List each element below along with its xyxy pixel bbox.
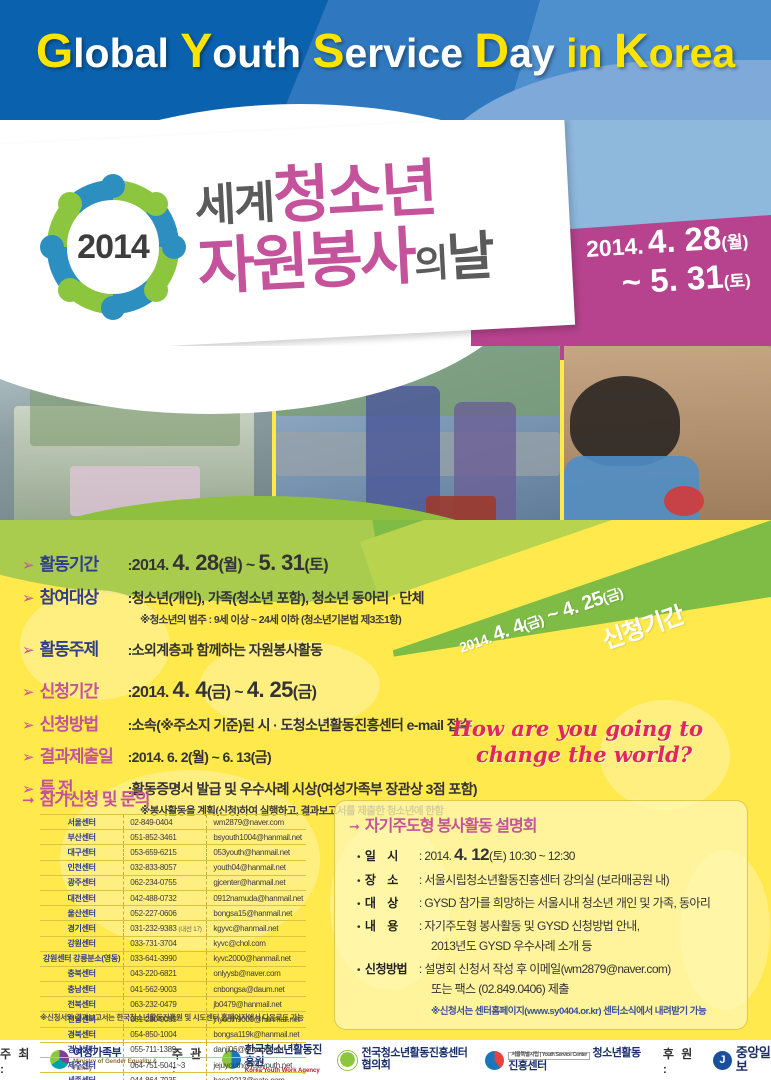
contact-email[interactable]: gjcenter@hanmail.net: [207, 875, 306, 890]
contact-center-name: 광주센터: [40, 875, 124, 890]
title-part-10: orea: [649, 30, 736, 76]
table-row: 전북센터063-232-0479jb0479@hanmail.net: [40, 997, 306, 1012]
contact-center-name: 대전센터: [40, 890, 124, 905]
info-row-label: 참여대상: [40, 583, 128, 608]
top-banner: Global Youth Service Day in Korea: [0, 0, 771, 140]
contact-phone: 033-641-3990: [124, 951, 207, 966]
contact-table: 서울센터02-849-0404wm2879@naver.com부산센터051-8…: [40, 814, 306, 1080]
info-row-value: 활동증명서 발급 및 우수사례 시상(여성가족부 장관상 3점 포함): [132, 779, 477, 799]
slogan-line-1: How are you going to: [452, 716, 703, 741]
info-row-0: ➢활동기간 : 2014. 4. 28(월) ~ 5. 31(토): [22, 550, 582, 576]
center-council-logo-icon: [337, 1050, 358, 1071]
info-row-label: 결과제출일: [40, 742, 128, 767]
contact-phone: 042-488-0732: [124, 890, 207, 905]
bullet-arrow-icon: ➢: [22, 558, 35, 573]
contact-center-name: 경북센터: [40, 1027, 124, 1042]
contact-email[interactable]: wm2879@naver.com: [207, 815, 306, 830]
contact-phone: 033-731-3704: [124, 936, 207, 951]
table-row: 전남센터061-280-9085jnyouth9000@hanmail.net: [40, 1012, 306, 1027]
table-row: 충남센터041-562-9003cnbongsa@daum.net: [40, 982, 306, 997]
info-row-label: 신청기간: [40, 677, 128, 702]
table-row: 대구센터053-659-6215053youth@hanmail.net: [40, 845, 306, 860]
briefing-row-value: : 자기주도형 봉사활동 및 GYSD 신청방법 안내,: [419, 917, 640, 934]
briefing-rows: •일 시: 2014. 4. 12(토) 10:30 ~ 12:30•장 소: …: [335, 845, 747, 1017]
contact-email[interactable]: danji06@gnyouth.net: [207, 1042, 306, 1057]
contact-email[interactable]: 0912namuda@hanmail.net: [207, 890, 306, 905]
contact-phone: 02-849-0404: [124, 815, 207, 830]
joongang-logo-icon: J: [713, 1051, 732, 1070]
photo-strip: [0, 346, 771, 532]
info-row-value: 2014. 4. 28(월) ~ 5. 31(토): [132, 550, 328, 576]
contact-phone: 055-711-1389: [124, 1042, 207, 1057]
date-end: ~ 5. 31: [620, 258, 724, 301]
contact-center-name: 대구센터: [40, 845, 124, 860]
info-row-label: 신청방법: [40, 710, 128, 735]
contact-phone: 053-659-6215: [124, 845, 207, 860]
contact-center-name: 강원센터: [40, 936, 124, 951]
gysd-2014-logo: 2014: [38, 172, 188, 322]
table-row: 광주센터062-234-0755gjcenter@hanmail.net: [40, 875, 306, 890]
contact-email[interactable]: onlyysb@naver.com: [207, 966, 306, 981]
contact-email[interactable]: 053youth@hanmail.net: [207, 845, 306, 860]
contact-email[interactable]: jnyouth9000@hanmail.net: [207, 1012, 306, 1027]
sponsor-organization: J 중앙일보: [713, 1046, 771, 1073]
poster-root: Global Youth Service Day in Korea: [0, 0, 771, 1080]
bullet-dot-icon: •: [357, 899, 360, 910]
briefing-row-label: 내 용: [365, 917, 419, 934]
contact-phone: 052-227-0606: [124, 906, 207, 921]
contact-phone: 043-220-6821: [124, 966, 207, 981]
title-part-9: K: [614, 25, 649, 78]
briefing-row-3: •내 용: 자기주도형 봉사활동 및 GYSD 신청방법 안내,: [357, 917, 747, 934]
table-row: 세종센터044-864-7935hasa0213@nate.com: [40, 1073, 306, 1080]
poster-english-title: Global Youth Service Day in Korea: [0, 28, 771, 76]
contact-phone: 064-751-5041~3: [124, 1058, 207, 1073]
bullet-arrow-icon: ➢: [22, 750, 35, 765]
table-row: 경남센터055-711-1389danji06@gnyouth.net: [40, 1042, 306, 1057]
sponsor-name: 중앙일보: [736, 1046, 771, 1073]
briefing-row-value: : 설명회 신청서 작성 후 이메일(wm2879@naver.com): [419, 960, 671, 977]
briefing-row-continuation: 또는 팩스 (02.849.0406) 제출: [431, 980, 747, 997]
briefing-row-value: : 서울시립청소년활동진흥센터 강의실 (보라매공원 내): [419, 871, 669, 888]
info-row-label: 활동주제: [40, 635, 128, 660]
title-part-4: S: [312, 25, 344, 78]
title-segment-segye: 세계: [193, 177, 274, 232]
contact-email[interactable]: bongsa119k@hanmail.net: [207, 1027, 306, 1042]
contact-phone: 063-232-0479: [124, 997, 207, 1012]
title-part-5: ervice: [344, 30, 474, 76]
contact-email[interactable]: kgyvc@hanmail.net: [207, 921, 306, 936]
contact-center-name: 충남센터: [40, 982, 124, 997]
table-row: 경기센터031-232-9383 (내선 17)kgyvc@hanmail.ne…: [40, 921, 306, 936]
contact-center-name: 부산센터: [40, 830, 124, 845]
title-part-3: outh: [212, 30, 312, 76]
bullet-arrow-icon: ➢: [22, 591, 35, 606]
contact-center-table: 서울센터02-849-0404wm2879@naver.com부산센터051-8…: [40, 814, 306, 1080]
seoul-center-logo-icon: [485, 1051, 504, 1070]
briefing-row-value: : 2014. 4. 12(토) 10:30 ~ 12:30: [419, 845, 575, 865]
briefing-row-note: ※신청서는 센터홈페이지(www.sy0404.or.kr) 센터소식에서 내려…: [431, 1003, 747, 1017]
info-row-value: 소외계층과 함께하는 자원봉사활동: [132, 640, 323, 660]
contact-phone: 062-234-0755: [124, 875, 207, 890]
organizer-3: 서울특별시립 | Youth Service Center 청소년활동진흥센터: [485, 1048, 649, 1072]
contact-phone: 054-850-1004: [124, 1027, 207, 1042]
contact-email[interactable]: cnbongsa@daum.net: [207, 982, 306, 997]
info-row-value: 2014. 4. 4(금) ~ 4. 25(금): [132, 677, 317, 703]
briefing-heading-label: 자기주도형 봉사활동 설명회: [365, 812, 537, 836]
title-segment-nal: 날: [445, 228, 494, 288]
contact-center-name: 전북센터: [40, 997, 124, 1012]
organizer-3-block: 서울특별시립 | Youth Service Center 청소년활동진흥센터: [508, 1048, 649, 1072]
contact-center-name: 제주센터: [40, 1058, 124, 1073]
sponsor-label: 후 원 :: [663, 1045, 699, 1076]
photo-student-crafting: [564, 346, 771, 532]
date-year: 2014.: [585, 232, 644, 261]
table-row: 경북센터054-850-1004bongsa119k@hanmail.net: [40, 1027, 306, 1042]
briefing-row-label: 일 시: [365, 847, 419, 864]
contact-phone: 051-852-3461: [124, 830, 207, 845]
briefing-row-2: •대 상: GYSD 참가를 희망하는 서울시내 청소년 개인 및 가족, 동아…: [357, 894, 747, 911]
korean-main-title: 세계청소년 자원봉사의날: [193, 154, 494, 300]
briefing-row-0: •일 시: 2014. 4. 12(토) 10:30 ~ 12:30: [357, 845, 747, 865]
contact-phone: 031-232-9383 (내선 17): [124, 921, 207, 936]
title-part-7: ay: [509, 30, 566, 76]
contact-center-name: 강원센터 강릉분소(영동): [40, 951, 124, 966]
bullet-arrow-icon: ➢: [22, 643, 35, 658]
briefing-row-4: •신청방법: 설명회 신청서 작성 후 이메일(wm2879@naver.com…: [357, 960, 747, 977]
contact-email[interactable]: jejuyouth@jejuyouth.net: [207, 1058, 306, 1073]
contact-center-name: 경기센터: [40, 921, 124, 936]
contact-center-name: 충북센터: [40, 966, 124, 981]
table-row: 제주센터064-751-5041~3jejuyouth@jejuyouth.ne…: [40, 1058, 306, 1073]
briefing-row-label: 장 소: [365, 871, 419, 888]
apply-heading-label: 참가신청 및 문의: [40, 785, 150, 810]
contact-center-name: 세종센터: [40, 1073, 124, 1080]
contact-email[interactable]: bsyouth1004@hanmail.net: [207, 830, 306, 845]
date-start: 4. 28: [646, 219, 722, 260]
contact-phone: 044-864-7935: [124, 1073, 207, 1080]
title-part-8: in: [566, 30, 614, 76]
contact-phone: 061-280-9085: [124, 1012, 207, 1027]
info-row-value: 소속(※주소지 기준)된 시 · 도청소년활동진흥센터 e-mail 접수: [132, 715, 472, 735]
briefing-info-box: ➞ 자기주도형 봉사활동 설명회 •일 시: 2014. 4. 12(토) 10…: [334, 800, 748, 1030]
contact-center-name: 경남센터: [40, 1042, 124, 1057]
table-row: 강원센터033-731-3704kyvc@chol.com: [40, 936, 306, 951]
organizer-2: 전국청소년활동진흥센터협의회: [337, 1048, 472, 1071]
table-row: 인천센터032-833-8057youth04@hanmail.net: [40, 860, 306, 875]
info-row-value: 2014. 6. 2(월) ~ 6. 13(금): [132, 747, 271, 767]
info-row-value: 청소년(개인), 가족(청소년 포함), 청소년 동아리 · 단체: [132, 588, 424, 608]
apply-section-heading: ➞ 참가신청 및 문의: [22, 785, 150, 810]
briefing-row-1: •장 소: 서울시립청소년활동진흥센터 강의실 (보라매공원 내): [357, 871, 747, 888]
info-row-3: ➢신청기간 : 2014. 4. 4(금) ~ 4. 25(금): [22, 677, 582, 703]
event-date-badge: 2014. 4. 28(월) ~ 5. 31(토): [584, 217, 751, 305]
contact-email[interactable]: kyvc@chol.com: [207, 936, 306, 951]
table-row: 충북센터043-220-6821onlyysb@naver.com: [40, 966, 306, 981]
title-segment-jawonbongsa: 자원봉사: [196, 223, 415, 303]
contact-email[interactable]: hasa0213@nate.com: [207, 1073, 306, 1080]
bullet-arrow-icon: ➞: [22, 793, 35, 808]
contact-phone: 041-562-9003: [124, 982, 207, 997]
briefing-row-label: 신청방법: [365, 960, 419, 977]
contact-email[interactable]: youth04@hanmail.net: [207, 860, 306, 875]
table-row: 울산센터052-227-0606bongsa15@hanmail.net: [40, 906, 306, 921]
table-row: 대전센터042-488-07320912namuda@hanmail.net: [40, 890, 306, 905]
bullet-arrow-icon: ➞: [349, 819, 360, 835]
poster-slogan: How are you going to change the world?: [452, 716, 752, 769]
host-label: 주 최 :: [0, 1045, 36, 1076]
title-part-6: D: [474, 25, 509, 78]
title-segment-cheongsonyeon: 청소년: [271, 154, 437, 231]
bullet-arrow-icon: ➢: [22, 718, 35, 733]
info-row-label: 활동기간: [40, 550, 128, 575]
date-end-day: (토): [723, 271, 751, 292]
contact-center-name: 인천센터: [40, 860, 124, 875]
bullet-dot-icon: •: [357, 876, 360, 887]
bullet-dot-icon: •: [357, 922, 360, 933]
bullet-dot-icon: •: [357, 965, 360, 976]
table-row: 부산센터051-852-3461bsyouth1004@hanmail.net: [40, 830, 306, 845]
title-segment-ui: 의: [413, 243, 448, 287]
title-part-1: lobal: [73, 30, 180, 76]
title-part-0: G: [36, 25, 73, 78]
bullet-dot-icon: •: [357, 852, 360, 863]
contact-email[interactable]: bongsa15@hanmail.net: [207, 906, 306, 921]
contact-phone: 032-833-8057: [124, 860, 207, 875]
date-start-day: (월): [720, 232, 748, 253]
contact-center-name: 서울센터: [40, 815, 124, 830]
briefing-heading: ➞ 자기주도형 봉사활동 설명회: [349, 812, 747, 836]
logo-year: 2014: [38, 172, 188, 322]
info-row-1: ➢참여대상 : 청소년(개인), 가족(청소년 포함), 청소년 동아리 · 단…: [22, 583, 582, 608]
contact-center-name: 전남센터: [40, 1012, 124, 1027]
contact-email[interactable]: kyvc2000@hanmail.net: [207, 951, 306, 966]
briefing-row-value: : GYSD 참가를 희망하는 서울시내 청소년 개인 및 가족, 동아리: [419, 894, 710, 911]
contact-center-name: 울산센터: [40, 906, 124, 921]
info-list-spacer: [22, 667, 582, 677]
contact-email[interactable]: jb0479@hanmail.net: [207, 997, 306, 1012]
organizer-2-name: 전국청소년활동진흥센터협의회: [362, 1048, 472, 1071]
slogan-line-2: change the world?: [452, 742, 752, 768]
briefing-row-label: 대 상: [365, 894, 419, 911]
table-row: 서울센터02-849-0404wm2879@naver.com: [40, 815, 306, 830]
bullet-arrow-icon: ➢: [22, 685, 35, 700]
organizer-3-sub: 서울특별시립 | Youth Service Center: [508, 1052, 590, 1060]
briefing-row-continuation: 2013년도 GYSD 우수사례 소개 등: [431, 937, 747, 954]
title-part-2: Y: [180, 25, 212, 78]
table-row: 강원센터 강릉분소(영동)033-641-3990kyvc2000@hanmai…: [40, 951, 306, 966]
